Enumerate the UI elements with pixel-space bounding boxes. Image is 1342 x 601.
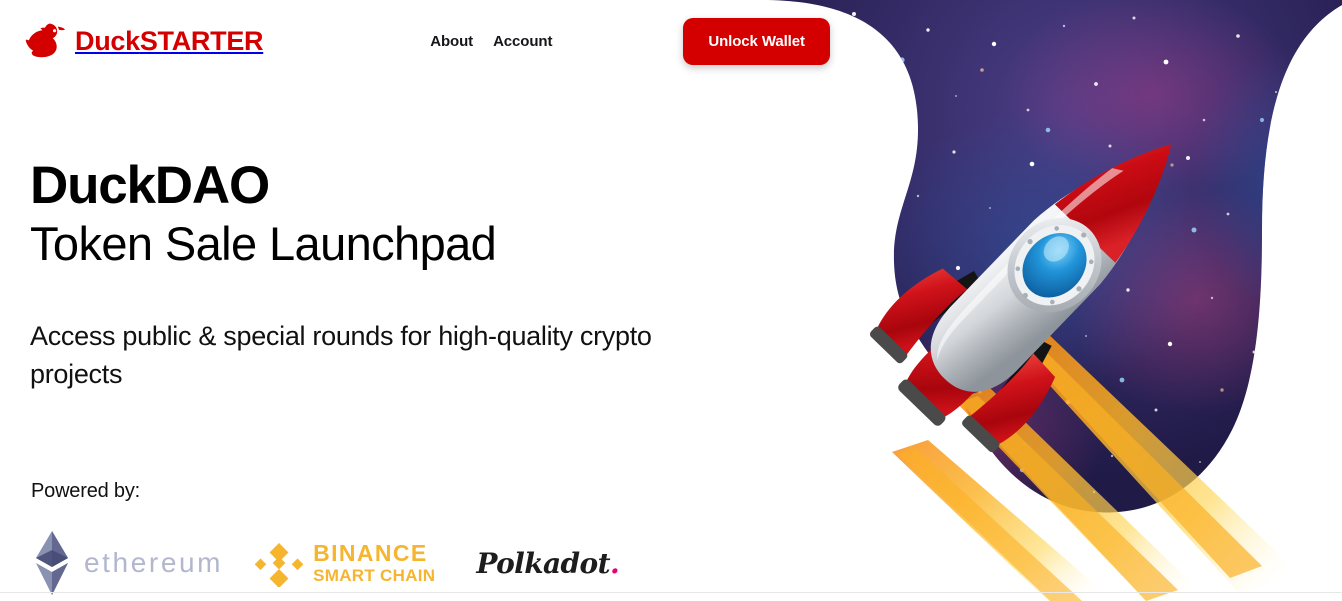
main-nav: About Account Unlock Wallet bbox=[430, 18, 830, 65]
partner-ethereum[interactable]: ethereum bbox=[31, 529, 223, 597]
hero-artwork bbox=[742, 0, 1342, 601]
rocket-flames bbox=[892, 330, 1302, 601]
brand-logo[interactable]: DuckSTARTER bbox=[24, 21, 263, 61]
hero-title-light: Token Sale Launchpad bbox=[30, 216, 790, 272]
nav-link-about[interactable]: About bbox=[430, 33, 473, 50]
brand-name-part2: STARTER bbox=[140, 26, 263, 56]
partner-binance-smart-chain[interactable]: BINANCE SMART CHAIN bbox=[255, 539, 435, 587]
rocket-icon bbox=[853, 83, 1235, 470]
nav-link-account[interactable]: Account bbox=[493, 33, 552, 50]
partner-polkadot[interactable]: Polkadot. bbox=[476, 547, 619, 580]
binance-label-line2: SMART CHAIN bbox=[313, 567, 435, 584]
powered-by-label: Powered by: bbox=[31, 480, 619, 503]
hero-title-bold: DuckDAO bbox=[30, 158, 790, 214]
duck-icon bbox=[24, 21, 66, 61]
footer-divider bbox=[0, 592, 1342, 593]
brand-name: DuckSTARTER bbox=[75, 28, 263, 55]
brand-name-part1: Duck bbox=[75, 26, 140, 56]
unlock-wallet-button[interactable]: Unlock Wallet bbox=[683, 18, 830, 65]
landing-page: DuckSTARTER About Account Unlock Wallet … bbox=[0, 0, 1342, 601]
space-nebula-blob bbox=[742, 0, 1342, 601]
ethereum-icon bbox=[31, 529, 73, 597]
binance-label: BINANCE SMART CHAIN bbox=[313, 542, 435, 584]
polkadot-label: Polkadot bbox=[476, 547, 610, 580]
binance-icon bbox=[255, 539, 303, 587]
powered-by-section: Powered by: ethereum bbox=[31, 480, 619, 597]
polkadot-accent-dot: . bbox=[610, 547, 619, 580]
site-header: DuckSTARTER About Account Unlock Wallet bbox=[0, 0, 900, 82]
ethereum-label: ethereum bbox=[84, 547, 223, 579]
hero-section: DuckDAO Token Sale Launchpad Access publ… bbox=[30, 158, 790, 393]
polkadot-wordmark: Polkadot. bbox=[476, 547, 619, 580]
partner-logo-row: ethereum BINANCE SMART CHAIN bbox=[31, 529, 619, 597]
hero-subtitle: Access public & special rounds for high-… bbox=[30, 317, 740, 394]
binance-label-line1: BINANCE bbox=[313, 542, 435, 565]
